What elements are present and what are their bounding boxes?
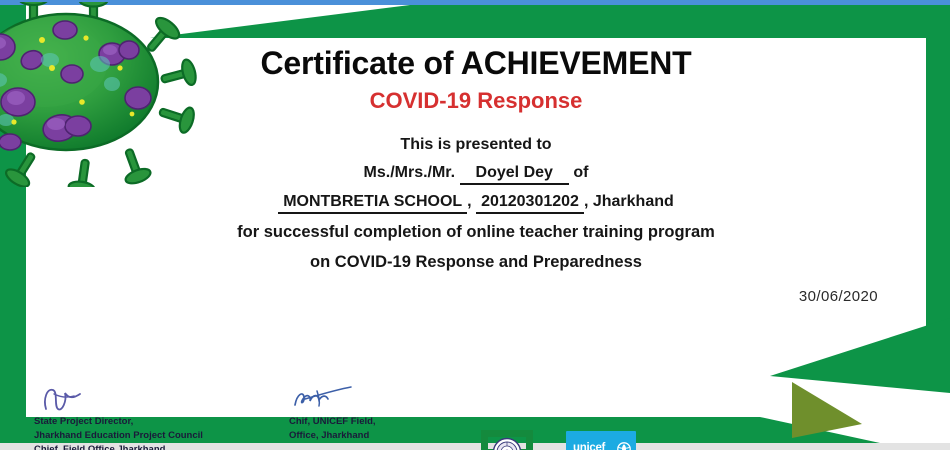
school-code-value: 20120301202 xyxy=(476,193,584,214)
signature-block-unicef-field-chief: Chif, UNICEF Field, Office, Jharkhand xyxy=(289,385,376,443)
signature-line-1: State Project Director, xyxy=(34,415,203,429)
recipient-name-value: Doyel Dey xyxy=(460,164,569,185)
school-name-value: MONTBRETIA SCHOOL xyxy=(278,193,467,214)
reason-line: for successful completion of online teac… xyxy=(26,223,926,242)
border-right-green xyxy=(926,5,950,365)
issue-date: 30/06/2020 xyxy=(799,288,878,305)
signature-line-2: Office, Jharkhand xyxy=(289,429,376,443)
unicef-logo-icon: unicef for every child xyxy=(566,431,636,450)
signature-line-3: Chief, Field Office,Jharkhand xyxy=(34,443,203,450)
signature-block-state-project-director: State Project Director, Jharkhand Educat… xyxy=(34,385,203,450)
topic-line: on COVID-19 Response and Preparedness xyxy=(26,253,926,272)
recipient-line: Ms./Mrs./Mr. Doyel Dey of xyxy=(26,164,926,185)
salutation-label: Ms./Mrs./Mr. xyxy=(364,164,456,181)
signature-mark-icon xyxy=(34,385,203,413)
jharkhand-government-logo-icon xyxy=(478,424,536,450)
certificate-content: Certificate of ACHIEVEMENT COVID-19 Resp… xyxy=(26,38,926,418)
unicef-emblem-icon xyxy=(617,442,631,450)
of-label: of xyxy=(573,164,588,181)
presented-to-label: This is presented to xyxy=(26,136,926,154)
certificate-title: Certificate of ACHIEVEMENT xyxy=(26,45,926,82)
signature-mark-icon xyxy=(289,385,376,413)
signature-line-1: Chif, UNICEF Field, xyxy=(289,415,376,429)
signature-line-2: Jharkhand Education Project Council xyxy=(34,429,203,443)
state-label: Jharkhand xyxy=(593,193,674,210)
comma-separator-1: , xyxy=(467,193,471,210)
unicef-wordmark: unicef xyxy=(573,442,605,450)
certificate-subtitle: COVID-19 Response xyxy=(26,88,926,114)
comma-separator-2: , xyxy=(584,193,588,210)
school-line: MONTBRETIA SCHOOL, 20120301202, Jharkhan… xyxy=(26,193,926,214)
certificate-image: Certificate of ACHIEVEMENT COVID-19 Resp… xyxy=(0,0,950,450)
